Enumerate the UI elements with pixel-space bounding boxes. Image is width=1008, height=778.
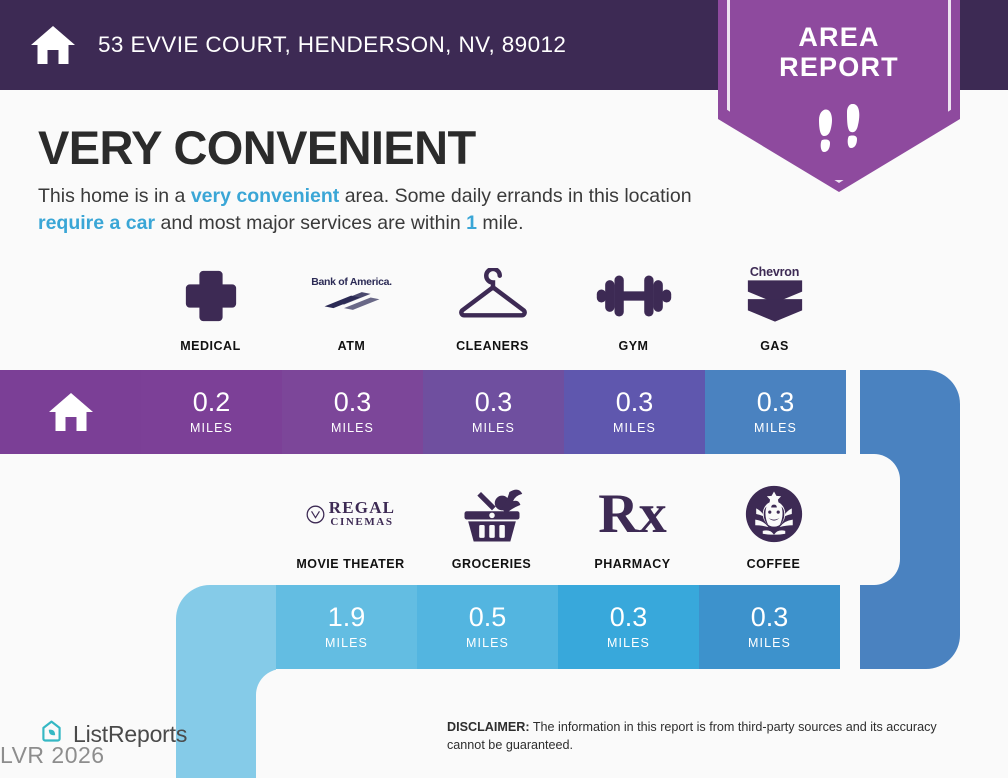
distance-unit: MILES <box>748 636 791 650</box>
watermark-text: LVR 2026 <box>0 742 105 769</box>
distance-cell-cleaners: 0.3 MILES <box>423 370 564 454</box>
dumbbell-icon <box>594 262 674 330</box>
summary-part-3: and most major services are within <box>155 212 466 234</box>
distance-cell-movie-theater: 1.9 MILES <box>276 585 417 669</box>
amenity-cleaners: CLEANERS <box>422 262 563 353</box>
amenity-icon-row-1: MEDICAL Bank of America. ATM <box>140 262 860 353</box>
clothes-hanger-icon <box>456 262 530 330</box>
distance-unit: MILES <box>754 421 797 435</box>
amenity-gas: Chevron GAS <box>704 262 845 353</box>
amenity-medical: MEDICAL <box>140 262 281 353</box>
distance-unit: MILES <box>607 636 650 650</box>
distance-value: 0.3 <box>475 389 513 416</box>
distance-value: 0.3 <box>751 604 789 631</box>
summary-text: This home is in a very convenient area. … <box>38 183 710 236</box>
badge-line-2: REPORT <box>718 52 960 82</box>
distance-unit: MILES <box>190 421 233 435</box>
distance-unit: MILES <box>325 636 368 650</box>
footprints-icon <box>811 104 867 166</box>
ribbon-home-cell <box>0 370 141 454</box>
distance-cell-medical: 0.2 MILES <box>141 370 282 454</box>
area-report-page: 53 EVVIE COURT, HENDERSON, NV, 89012 ARE… <box>0 0 1008 778</box>
summary-part-2: area. Some daily errands in this locatio… <box>339 185 691 207</box>
distance-unit: MILES <box>472 421 515 435</box>
amenity-atm: Bank of America. ATM <box>281 262 422 353</box>
bank-logo-text: Bank of America. <box>311 276 392 288</box>
distance-ribbon: 0.2 MILES 0.3 MILES 0.3 MILES 0.3 MILES … <box>0 370 1008 778</box>
distance-value: 1.9 <box>328 604 366 631</box>
bank-of-america-logo-icon: Bank of America. <box>311 262 392 330</box>
distance-value: 0.3 <box>334 389 372 416</box>
summary-highlight-3: 1 <box>466 212 477 234</box>
ribbon-left-notch <box>256 669 346 778</box>
amenity-label: GAS <box>760 339 789 353</box>
amenity-gym: GYM <box>563 262 704 353</box>
home-icon <box>30 24 76 66</box>
chevron-logo-text: Chevron <box>746 265 804 279</box>
distance-value: 0.3 <box>757 389 795 416</box>
area-report-badge: AREA REPORT <box>718 0 960 192</box>
distance-cell-coffee: 0.3 MILES <box>699 585 840 669</box>
amenity-label: ATM <box>338 339 366 353</box>
chevron-logo-icon: Chevron <box>746 262 804 330</box>
distance-cell-pharmacy: 0.3 MILES <box>558 585 699 669</box>
badge-line-1: AREA <box>718 22 960 52</box>
property-address: 53 EVVIE COURT, HENDERSON, NV, 89012 <box>98 32 566 58</box>
amenity-label: MEDICAL <box>180 339 240 353</box>
distance-cell-groceries: 0.5 MILES <box>417 585 558 669</box>
ribbon-right-notch <box>820 454 900 585</box>
distance-cell-atm: 0.3 MILES <box>282 370 423 454</box>
distance-cell-gym: 0.3 MILES <box>564 370 705 454</box>
summary-highlight-1: very convenient <box>191 185 339 207</box>
amenity-label: GYM <box>619 339 649 353</box>
distance-cell-gas: 0.3 MILES <box>705 370 846 454</box>
summary-part-4: mile. <box>477 212 524 234</box>
page-title: VERY CONVENIENT <box>38 120 476 175</box>
distance-unit: MILES <box>466 636 509 650</box>
distance-value: 0.3 <box>616 389 654 416</box>
disclaimer-label: DISCLAIMER: <box>447 720 530 734</box>
badge-text: AREA REPORT <box>718 22 960 82</box>
summary-part-1: This home is in a <box>38 185 191 207</box>
summary-highlight-2: require a car <box>38 212 155 234</box>
distance-value: 0.2 <box>193 389 231 416</box>
distance-value: 0.3 <box>610 604 648 631</box>
distance-unit: MILES <box>613 421 656 435</box>
disclaimer: DISCLAIMER: The information in this repo… <box>447 719 967 755</box>
distance-unit: MILES <box>331 421 374 435</box>
distance-value: 0.5 <box>469 604 507 631</box>
medical-cross-icon <box>182 262 240 330</box>
amenity-label: CLEANERS <box>456 339 529 353</box>
